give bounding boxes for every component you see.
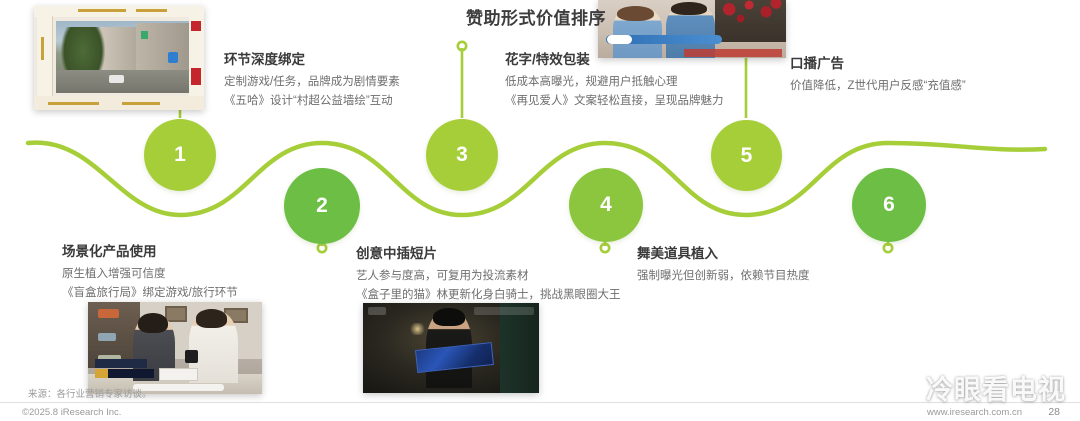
step-line-3-1: 《再见爱人》文案轻松直接，呈现品牌魅力: [505, 92, 724, 111]
step-circle-4-number: 4: [600, 193, 612, 217]
footer-url: www.iresearch.com.cn: [927, 407, 1022, 418]
thumbnail-street-scene-image: [34, 6, 204, 110]
step-text-4: 创意中插短片 艺人参与度高，可复用为投流素材 《盒子里的猫》林更新化身白骑士，挑…: [356, 242, 621, 304]
step-line-6-0: 强制曝光但创新弱，依赖节目热度: [637, 267, 810, 286]
step-line-4-1: 《盒子里的猫》林更新化身白骑士，挑战黑眼圈大王: [356, 286, 621, 305]
step-heading-4: 创意中插短片: [356, 242, 621, 262]
step-line-4-0: 艺人参与度高，可复用为投流素材: [356, 267, 621, 286]
step-text-3: 花字/特效包装 低成本高曝光，规避用户抵触心理 《再见爱人》文案轻松直接，呈现品…: [505, 48, 724, 110]
page-title: 赞助形式价值排序: [466, 4, 606, 29]
step-line-1-0: 定制游戏/任务，品牌成为剧情要素: [224, 73, 400, 92]
step-heading-5: 口播广告: [790, 52, 966, 72]
footer-divider: [0, 402, 1080, 403]
step-text-2: 场景化产品使用 原生植入增强可信度 《盲盒旅行局》绑定游戏/旅行环节: [62, 240, 238, 302]
watermark-text: 冷眼看电视: [926, 368, 1066, 407]
step-circle-1[interactable]: 1: [144, 119, 216, 191]
step-circle-4[interactable]: 4: [569, 168, 643, 242]
page-number: 28: [1048, 406, 1060, 418]
step-text-1: 环节深度绑定 定制游戏/任务，品牌成为剧情要素 《五哈》设计“村超公益墙绘”互动: [224, 48, 400, 110]
step-line-5-0: 价值降低，Z世代用户反感“充值感”: [790, 77, 966, 96]
thumbnail-street-scene: [34, 6, 204, 110]
step-circle-5-number: 5: [741, 144, 753, 168]
copyright-note: ©2025.8 iResearch Inc.: [22, 407, 121, 418]
step-text-6: 舞美道具植入 强制曝光但创新弱，依赖节目热度: [637, 242, 810, 286]
step-circle-3-number: 3: [456, 143, 468, 167]
step-circle-5[interactable]: 5: [711, 120, 782, 191]
step-line-1-1: 《五哈》设计“村超公益墙绘”互动: [224, 92, 400, 111]
thumbnail-two-people-table-image: [88, 302, 262, 394]
step-circle-2[interactable]: 2: [284, 168, 360, 244]
slide-canvas: 赞助形式价值排序: [0, 0, 1080, 421]
step-line-3-0: 低成本高曝光，规避用户抵触心理: [505, 73, 724, 92]
step-circle-3[interactable]: 3: [426, 119, 498, 191]
step-heading-1: 环节深度绑定: [224, 48, 400, 68]
source-note: 来源：各行业营销专家访谈。: [28, 386, 152, 400]
step-text-5: 口播广告 价值降低，Z世代用户反感“充值感”: [790, 52, 966, 96]
thumbnail-two-people-table: [88, 302, 262, 394]
step-heading-3: 花字/特效包装: [505, 48, 724, 68]
step-circle-1-number: 1: [174, 143, 186, 167]
thumbnail-dark-scene-package: [363, 303, 539, 393]
thumbnail-dark-scene-package-image: [363, 303, 539, 393]
step-circle-6[interactable]: 6: [852, 168, 926, 242]
step-circle-2-number: 2: [316, 194, 328, 218]
step-line-2-1: 《盲盒旅行局》绑定游戏/旅行环节: [62, 284, 238, 303]
step-heading-2: 场景化产品使用: [62, 240, 238, 260]
step-circle-6-number: 6: [883, 193, 895, 217]
step-heading-6: 舞美道具植入: [637, 242, 810, 262]
step-line-2-0: 原生植入增强可信度: [62, 265, 238, 284]
